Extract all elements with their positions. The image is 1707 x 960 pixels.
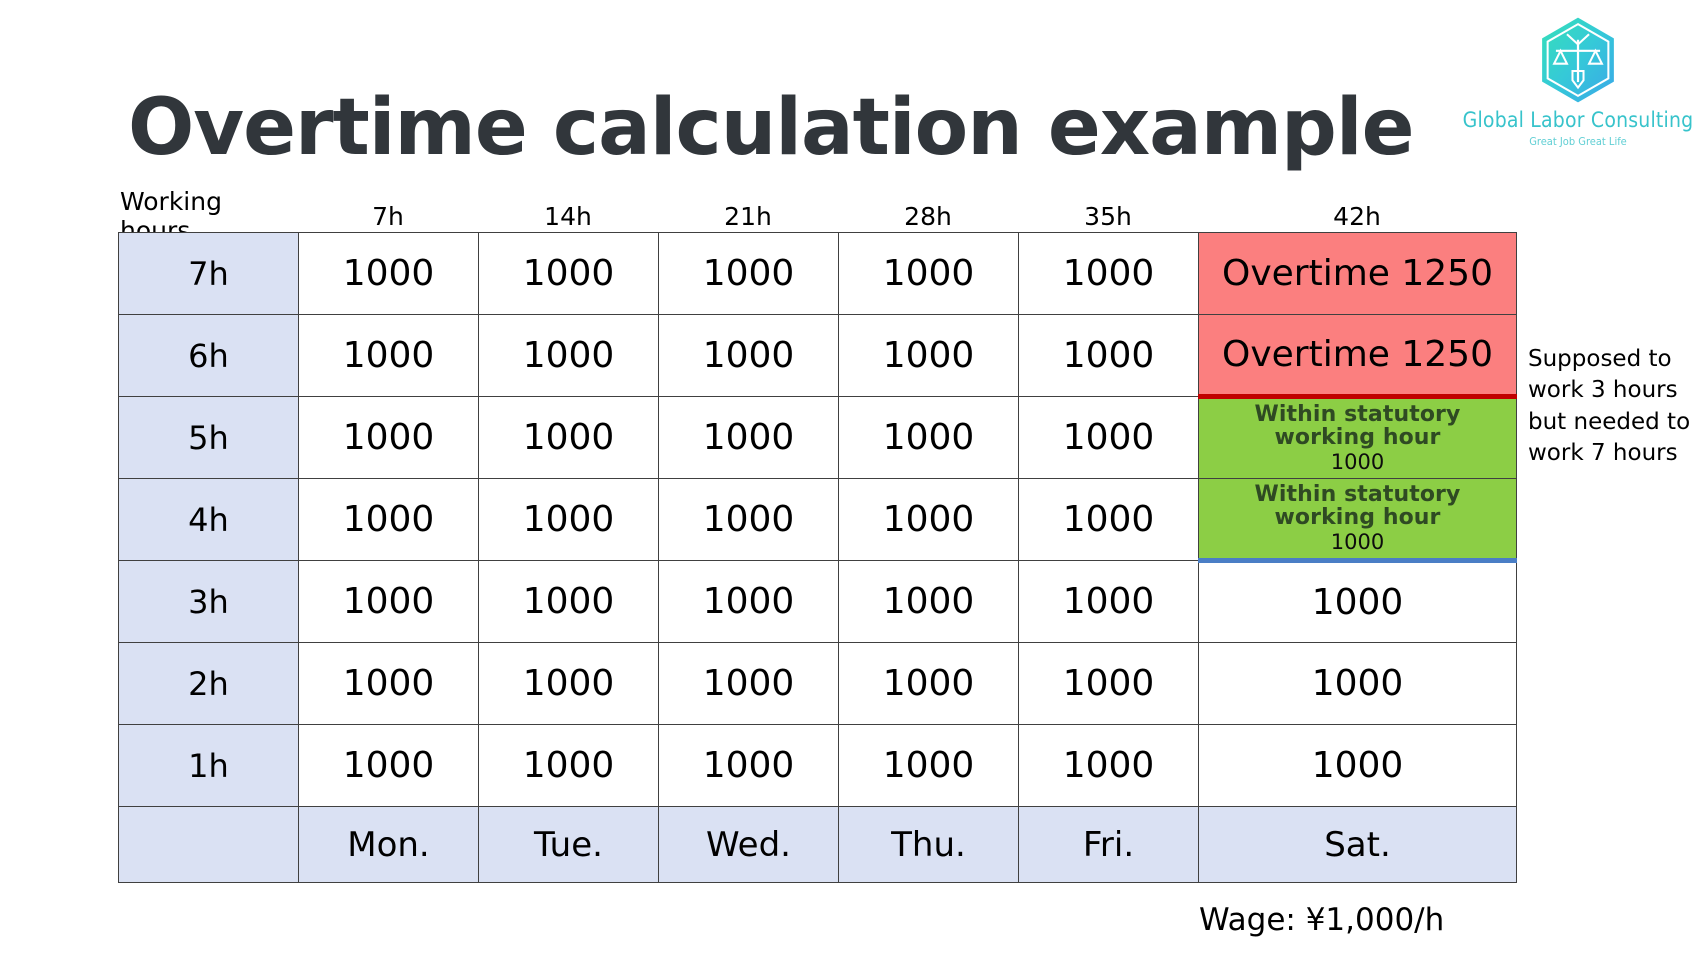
day-label-fri: Fri. [1019, 807, 1199, 883]
day-label-thu: Thu. [839, 807, 1019, 883]
cum-hours-wed: 21h [658, 202, 838, 231]
table-row: 1h 1000 1000 1000 1000 1000 1000 [119, 725, 1517, 807]
cell-mon: 1000 [299, 233, 479, 315]
cell-fri: 1000 [1019, 643, 1199, 725]
cell-thu: 1000 [839, 725, 1019, 807]
cell-tue: 1000 [479, 643, 659, 725]
slide-root: Global Labor Consulting Great Job Great … [0, 0, 1707, 960]
cell-tue: 1000 [479, 315, 659, 397]
statutory-line-2: working hour [1199, 506, 1516, 529]
cell-tue: 1000 [479, 725, 659, 807]
scales-of-justice-hexagon-icon [1532, 14, 1624, 106]
cell-mon: 1000 [299, 479, 479, 561]
cum-hours-mon: 7h [298, 202, 478, 231]
day-label-wed: Wed. [659, 807, 839, 883]
row-hour-label: 3h [119, 561, 299, 643]
row-hour-label: 4h [119, 479, 299, 561]
cell-thu: 1000 [839, 315, 1019, 397]
cum-hours-tue: 14h [478, 202, 658, 231]
table-row: 3h 1000 1000 1000 1000 1000 1000 [119, 561, 1517, 643]
row-hour-label: 2h [119, 643, 299, 725]
cell-fri: 1000 [1019, 725, 1199, 807]
day-label-mon: Mon. [299, 807, 479, 883]
cell-wed: 1000 [659, 397, 839, 479]
day-label-sat: Sat. [1199, 807, 1517, 883]
cell-sat: 1000 [1199, 643, 1517, 725]
cell-mon: 1000 [299, 561, 479, 643]
row-hour-label: 1h [119, 725, 299, 807]
side-note: Supposed to work 3 hours but needed to w… [1528, 344, 1707, 469]
row-hour-label: 6h [119, 315, 299, 397]
cell-thu: 1000 [839, 643, 1019, 725]
cell-fri: 1000 [1019, 479, 1199, 561]
statutory-line-2: working hour [1199, 426, 1516, 449]
cell-tue: 1000 [479, 233, 659, 315]
cell-mon: 1000 [299, 725, 479, 807]
overtime-table: 7h 1000 1000 1000 1000 1000 Overtime 125… [118, 232, 1517, 883]
statutory-value: 1000 [1199, 531, 1516, 553]
cell-mon: 1000 [299, 315, 479, 397]
table-row: 4h 1000 1000 1000 1000 1000 Within statu… [119, 479, 1517, 561]
cell-sat-statutory: Within statutory working hour 1000 [1199, 479, 1517, 561]
row-hour-label: 5h [119, 397, 299, 479]
cum-hours-sat: 42h [1198, 202, 1516, 231]
cell-tue: 1000 [479, 397, 659, 479]
cell-fri: 1000 [1019, 233, 1199, 315]
company-logo: Global Labor Consulting Great Job Great … [1483, 14, 1673, 174]
row-hour-label: 7h [119, 233, 299, 315]
cell-thu: 1000 [839, 561, 1019, 643]
cell-mon: 1000 [299, 643, 479, 725]
cumulative-hours-header: Working hours 7h 14h 21h 28h 35h 42h [118, 200, 1516, 232]
cell-wed: 1000 [659, 561, 839, 643]
cell-thu: 1000 [839, 479, 1019, 561]
page-title: Overtime calculation example [128, 83, 1414, 173]
cum-hours-fri: 35h [1018, 202, 1198, 231]
cell-wed: 1000 [659, 233, 839, 315]
day-label-tue: Tue. [479, 807, 659, 883]
table-row: 5h 1000 1000 1000 1000 1000 Within statu… [119, 397, 1517, 479]
cell-wed: 1000 [659, 315, 839, 397]
cum-hours-thu: 28h [838, 202, 1018, 231]
cell-sat-overtime: Overtime 1250 [1199, 315, 1517, 397]
cell-sat-statutory: Within statutory working hour 1000 [1199, 397, 1517, 479]
cell-wed: 1000 [659, 725, 839, 807]
cell-wed: 1000 [659, 643, 839, 725]
logo-company-name: Global Labor Consulting [1463, 108, 1694, 132]
table-row: 2h 1000 1000 1000 1000 1000 1000 [119, 643, 1517, 725]
cell-wed: 1000 [659, 479, 839, 561]
table-row: 7h 1000 1000 1000 1000 1000 Overtime 125… [119, 233, 1517, 315]
cell-tue: 1000 [479, 561, 659, 643]
table-row: 6h 1000 1000 1000 1000 1000 Overtime 125… [119, 315, 1517, 397]
cell-mon: 1000 [299, 397, 479, 479]
footer-blank-cell [119, 807, 299, 883]
cell-fri: 1000 [1019, 397, 1199, 479]
cell-thu: 1000 [839, 397, 1019, 479]
cell-sat: 1000 [1199, 725, 1517, 807]
cell-thu: 1000 [839, 233, 1019, 315]
cell-sat: 1000 [1199, 561, 1517, 643]
statutory-line-1: Within statutory [1199, 483, 1516, 506]
cell-fri: 1000 [1019, 315, 1199, 397]
statutory-line-1: Within statutory [1199, 403, 1516, 426]
logo-tagline: Great Job Great Life [1529, 135, 1627, 148]
cell-sat-overtime: Overtime 1250 [1199, 233, 1517, 315]
statutory-value: 1000 [1199, 451, 1516, 473]
cell-tue: 1000 [479, 479, 659, 561]
table-footer-row: Mon. Tue. Wed. Thu. Fri. Sat. [119, 807, 1517, 883]
wage-note: Wage: ¥1,000/h [1199, 902, 1444, 938]
cell-fri: 1000 [1019, 561, 1199, 643]
